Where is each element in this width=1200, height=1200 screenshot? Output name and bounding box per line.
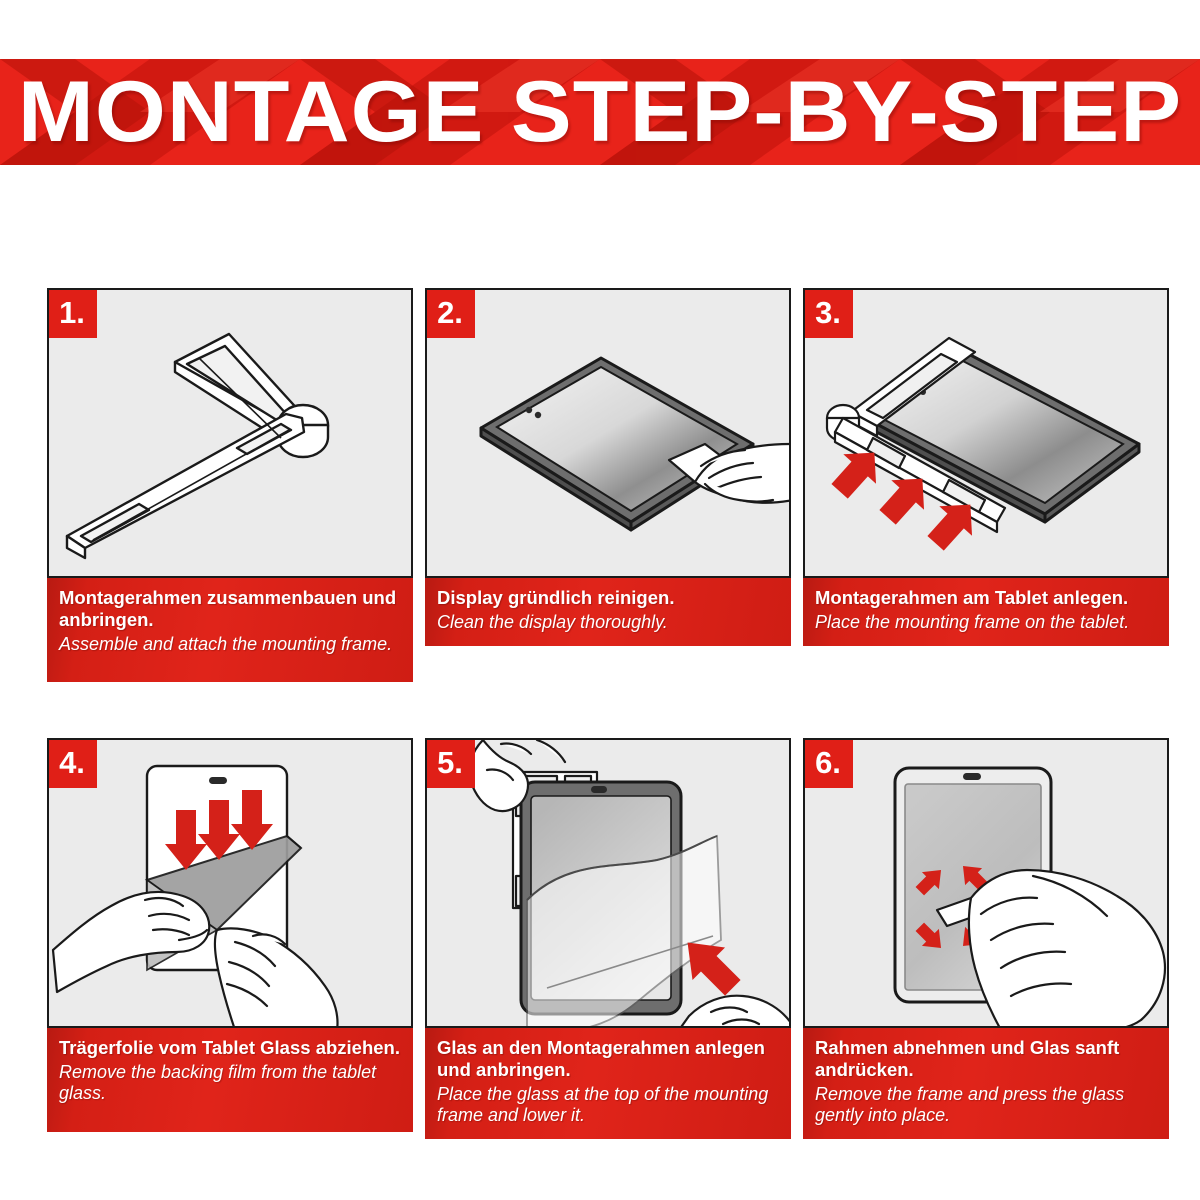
step-panel-1: 1. Montagerahmen zusammenbauen und anbri… [47,288,413,682]
step-6-caption-de: Rahmen abnehmen und Glas sanft andrücken… [815,1037,1157,1081]
step-5-figure: 5. [425,738,791,1028]
steps-row-bottom: 4. Trägerfolie vom Tablet Glass abziehen… [47,738,1153,1139]
step-6-figure: 6. [803,738,1169,1028]
step-2-caption-en: Clean the display thoroughly. [437,612,779,633]
steps-row-top: 1. Montagerahmen zusammenbauen und anbri… [47,288,1153,682]
step-6-caption: Rahmen abnehmen und Glas sanft andrücken… [803,1028,1169,1139]
step-number-badge-6: 6. [803,738,853,788]
step-number-badge-4: 4. [47,738,97,788]
step-4-caption-de: Trägerfolie vom Tablet Glass abziehen. [59,1037,401,1059]
step-number-badge-2: 2. [425,288,475,338]
step-2-caption: Display gründlich reinigen. Clean the di… [425,578,791,646]
step-5-caption: Glas an den Montagerahmen anlegen und an… [425,1028,791,1139]
step-number-badge-3: 3. [803,288,853,338]
step-5-caption-en: Place the glass at the top of the mounti… [437,1084,779,1126]
step-panel-2: 2. Display gründlich reinigen. Clean the… [425,288,791,682]
step-panel-4: 4. Trägerfolie vom Tablet Glass abziehen… [47,738,413,1139]
step-number-badge-1: 1. [47,288,97,338]
lower-glass-onto-frame-icon [427,740,791,1028]
step-3-caption: Montagerahmen am Tablet anlegen. Place t… [803,578,1169,646]
tablet-cleaning-icon [427,290,791,578]
step-3-caption-de: Montagerahmen am Tablet anlegen. [815,587,1157,609]
step-4-caption: Trägerfolie vom Tablet Glass abziehen. R… [47,1028,413,1132]
step-4-figure: 4. [47,738,413,1028]
step-6-caption-en: Remove the frame and press the glass gen… [815,1084,1157,1126]
step-5-caption-de: Glas an den Montagerahmen anlegen und an… [437,1037,779,1081]
header-banner: MONTAGE STEP-BY-STEP [0,59,1200,165]
mounting-frame-icon [49,290,413,578]
peel-backing-film-icon [49,740,413,1028]
step-3-caption-en: Place the mounting frame on the tablet. [815,612,1157,633]
step-panel-5: 5. Glas an den Montagerahmen anlegen und… [425,738,791,1139]
steps-grid: 1. Montagerahmen zusammenbauen und anbri… [47,288,1153,1139]
instruction-sheet: MONTAGE STEP-BY-STEP [0,0,1200,1200]
banner-title: MONTAGE STEP-BY-STEP [0,59,1200,165]
step-number-badge-5: 5. [425,738,475,788]
frame-on-tablet-icon [805,290,1169,578]
step-panel-3: 3. Montagerahmen am Tablet anlegen. Plac… [803,288,1169,682]
step-2-figure: 2. [425,288,791,578]
step-1-caption: Montagerahmen zusammenbauen und anbringe… [47,578,413,682]
step-1-caption-en: Assemble and attach the mounting frame. [59,634,401,655]
step-1-figure: 1. [47,288,413,578]
step-4-caption-en: Remove the backing film from the tablet … [59,1062,401,1104]
press-glass-icon [805,740,1169,1028]
step-2-caption-de: Display gründlich reinigen. [437,587,779,609]
step-panel-6: 6. Rahmen abnehmen und Glas sanft andrüc… [803,738,1169,1139]
step-1-caption-de: Montagerahmen zusammenbauen und anbringe… [59,587,401,631]
step-3-figure: 3. [803,288,1169,578]
